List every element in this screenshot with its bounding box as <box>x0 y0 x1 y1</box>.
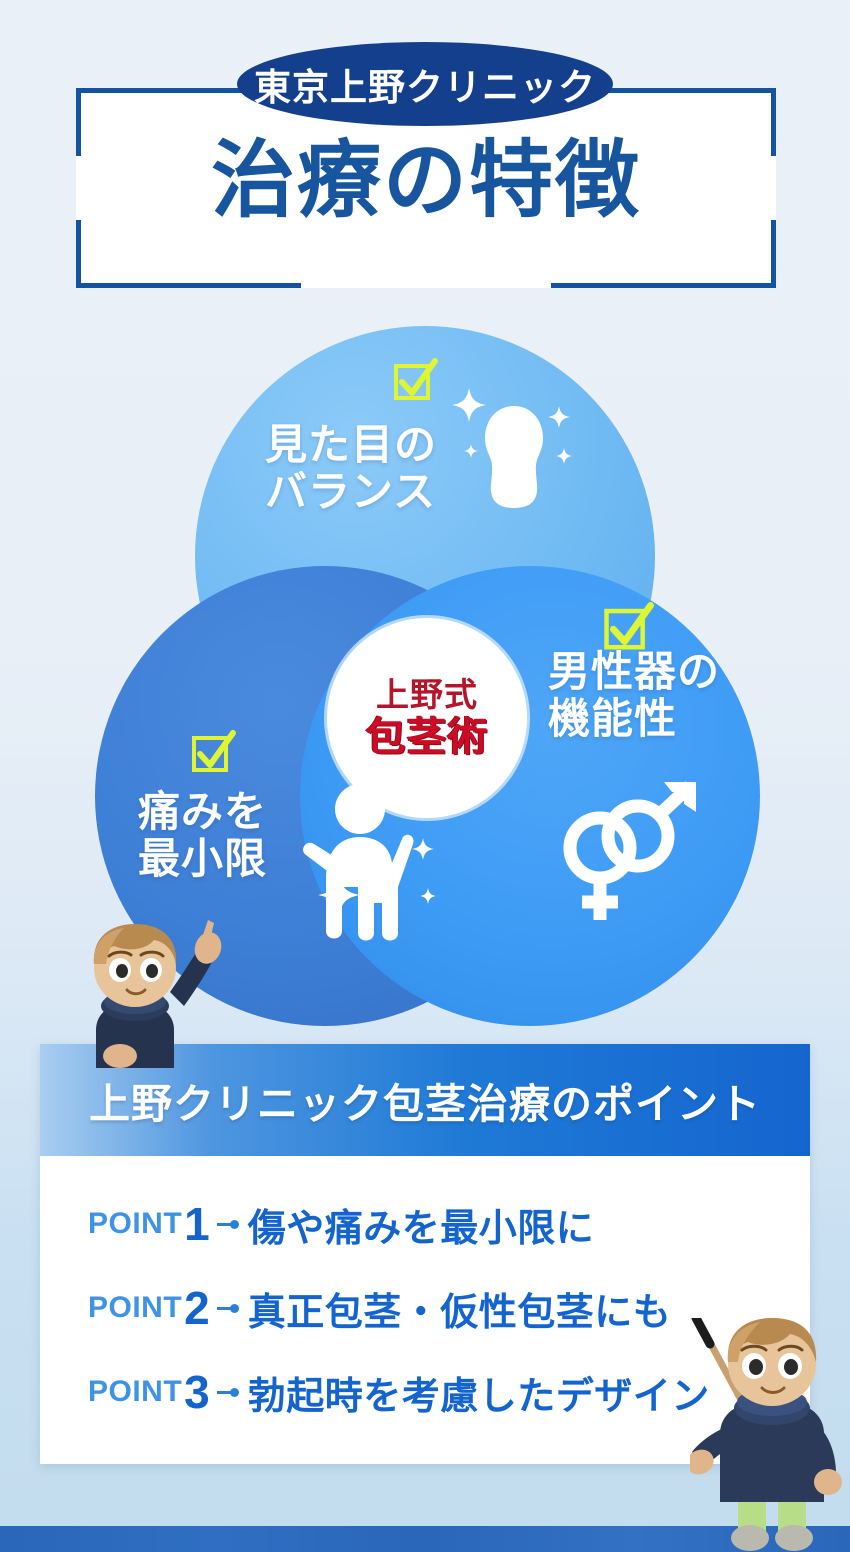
venn-label-function: 男性器の 機能性 <box>548 648 720 742</box>
venn-label-function-line2: 機能性 <box>548 695 720 742</box>
glans-shape-icon <box>479 404 549 512</box>
frame-line-right-bottom <box>771 220 776 288</box>
sparkle-icon <box>318 874 360 916</box>
point-number: 2 <box>184 1285 210 1331</box>
sparkle-icon <box>556 448 572 464</box>
page-title: 治療の特徴 <box>76 138 776 222</box>
venn-label-pain: 痛みを 最小限 <box>138 788 267 882</box>
point-number: 1 <box>184 1201 210 1247</box>
sparkle-icon <box>420 888 436 904</box>
venn-label-appearance-line2: バランス <box>265 468 437 515</box>
mascot-pointing-up <box>62 918 252 1068</box>
arrow-icon <box>217 1302 239 1314</box>
frame-line-left-bottom <box>76 220 81 288</box>
arrow-icon <box>217 1218 239 1230</box>
point-word: POINT <box>88 1291 182 1325</box>
venn-label-appearance-line1: 見た目の <box>265 421 437 468</box>
sparkle-icon <box>452 388 486 422</box>
venn-center-label: 上野式 包茎術 <box>327 618 527 818</box>
points-panel-heading: 上野クリニック包茎治療のポイント <box>89 1070 761 1130</box>
point-text: 勃起時を考慮したデザイン <box>248 1365 710 1420</box>
point-number: 3 <box>184 1369 210 1415</box>
venn-label-appearance: 見た目の バランス <box>265 421 437 515</box>
point-row: POINT 1 傷や痛みを最小限に <box>88 1182 810 1266</box>
venn-label-pain-line2: 最小限 <box>138 835 267 882</box>
venn-center-line2: 包茎術 <box>366 715 489 759</box>
clinic-name-badge: 東京上野クリニック <box>237 42 613 126</box>
clinic-name-label: 東京上野クリニック <box>254 57 596 111</box>
mascot-with-pointer-stick <box>690 1316 850 1552</box>
male-female-symbol-icon <box>556 778 704 938</box>
arrow-icon <box>217 1386 239 1398</box>
venn-label-pain-line1: 痛みを <box>138 788 267 835</box>
sparkle-icon <box>412 838 434 860</box>
check-box-icon <box>190 730 236 776</box>
check-box-icon <box>392 358 438 404</box>
venn-center-line1: 上野式 <box>376 677 478 713</box>
point-word: POINT <box>88 1207 182 1241</box>
sparkle-icon <box>464 444 478 458</box>
point-text: 傷や痛みを最小限に <box>248 1197 595 1252</box>
point-word: POINT <box>88 1375 182 1409</box>
venn-label-function-line1: 男性器の <box>548 648 720 695</box>
check-box-icon <box>602 602 654 654</box>
frame-line-bottom-left <box>76 283 301 288</box>
sparkle-icon <box>548 406 570 428</box>
point-text: 真正包茎・仮性包茎にも <box>248 1281 672 1336</box>
frame-line-bottom-right <box>551 283 776 288</box>
